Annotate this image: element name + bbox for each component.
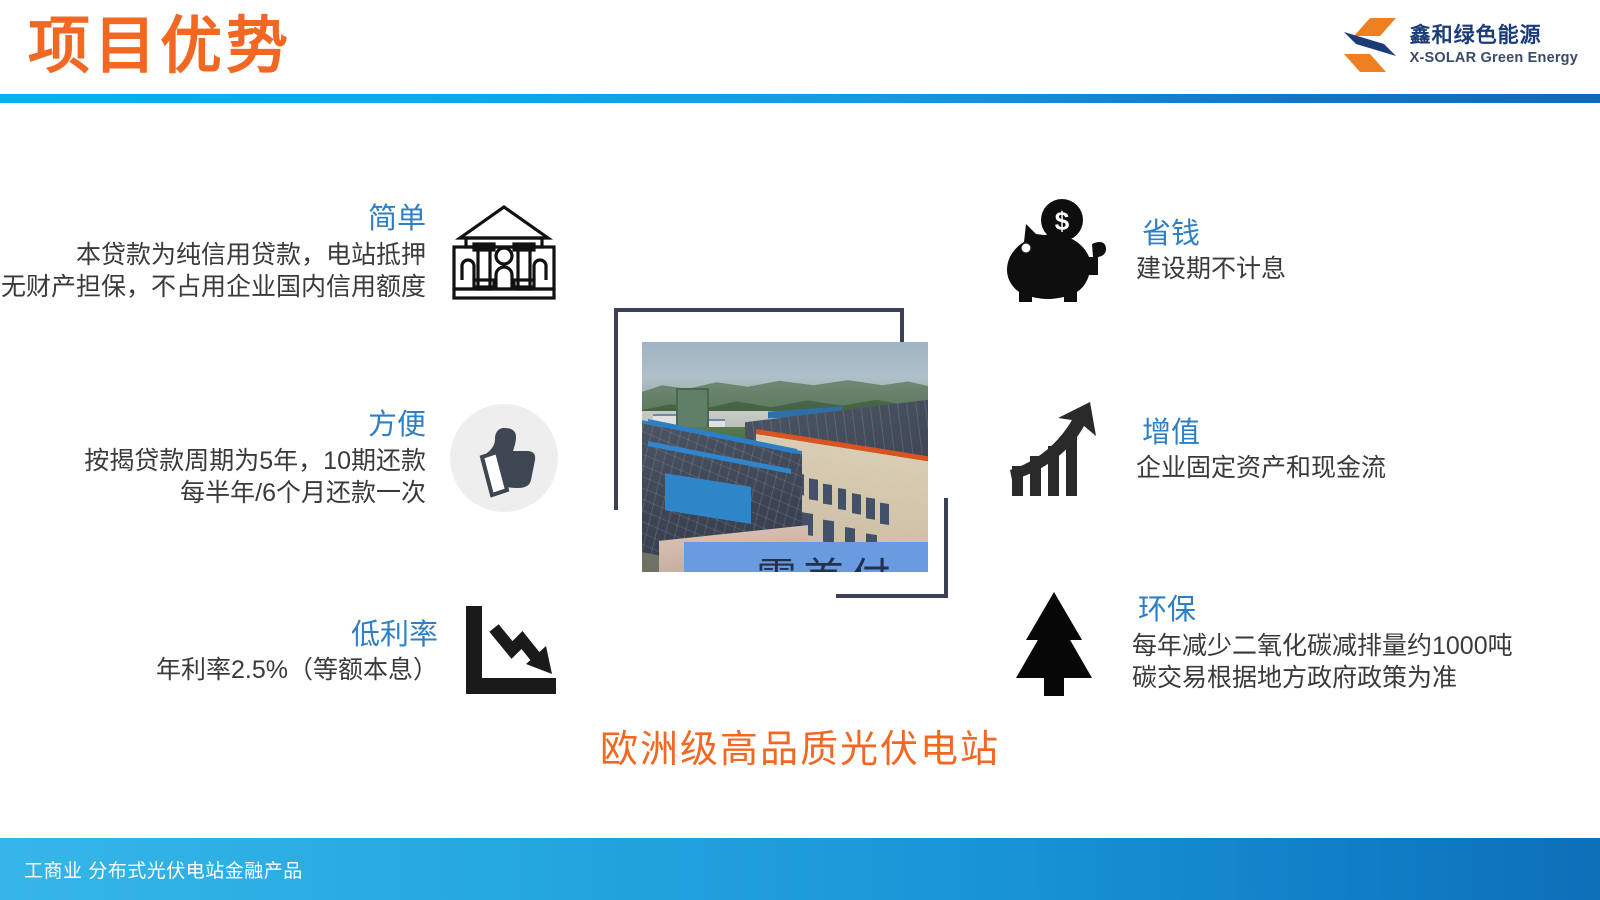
feature-description: 按揭贷款周期为5年，10期还款 每半年/6个月还款一次 [84,445,426,510]
feature-title: 增值 [1136,414,1386,452]
feature-description: 年利率2.5%（等额本息） [156,654,438,687]
feature-item-convenient: 方便 按揭贷款周期为5年，10期还款 每半年/6个月还款一次 [0,402,560,514]
slide-root: 项目优势 鑫和绿色能源 X-SOLAR Green Energy 简单 本贷款为… [0,0,1600,900]
header-divider-rule [0,94,1600,103]
growth-arrow-chart-svg [1000,398,1112,500]
feature-item-value-added: 增值 企业固定资产和现金流 [1000,398,1580,500]
center-photo-block: 零首付 [600,300,960,600]
logo-name-en: X-SOLAR Green Energy [1410,51,1578,66]
bank-building-svg [448,200,560,304]
feature-item-eco: 环保 每年减少二氧化碳减排量约1000吨 碳交易根据地方政府政策为准 [1000,588,1580,698]
feature-title: 方便 [84,406,426,444]
footer-text: 工商业 分布式光伏电站金融产品 [24,856,303,883]
feature-description: 每年减少二氧化碳减排量约1000吨 碳交易根据地方政府政策为准 [1132,630,1513,695]
feature-text-block: 方便 按揭贷款周期为5年，10期还款 每半年/6个月还款一次 [84,406,426,509]
feature-item-low-rate: 低利率 年利率2.5%（等额本息） [0,602,560,700]
logo-mark-svg [1340,16,1400,74]
growth-arrow-chart-icon [1000,398,1112,500]
feature-title: 低利率 [156,616,438,654]
feature-description: 本贷款为纯信用贷款，电站抵押 无财产担保，不占用企业国内信用额度 [1,239,426,304]
feature-text-block: 省钱 建设期不计息 [1136,215,1286,286]
declining-chart-icon [460,602,560,700]
feature-item-simple: 简单 本贷款为纯信用贷款，电站抵押 无财产担保，不占用企业国内信用额度 [0,200,560,304]
feature-text-block: 增值 企业固定资产和现金流 [1136,414,1386,485]
feature-text-block: 简单 本贷款为纯信用贷款，电站抵押 无财产担保，不占用企业国内信用额度 [1,200,426,303]
feature-text-block: 环保 每年减少二氧化碳减排量约1000吨 碳交易根据地方政府政策为准 [1132,591,1513,694]
rooftop-solar-photo: 零首付 [642,342,928,572]
x-solar-logo-mark-icon [1340,16,1400,74]
feature-item-save-money: $ 省钱 建设期不计息 [1000,198,1580,302]
center-tagline: 欧洲级高品质光伏电站 [600,718,992,773]
tree-icon [1000,588,1108,698]
feature-text-block: 低利率 年利率2.5%（等额本息） [156,616,438,687]
thumbs-up-icon [448,402,560,514]
piggy-bank-svg: $ [1000,198,1112,302]
logo-text-block: 鑫和绿色能源 X-SOLAR Green Energy [1410,25,1578,66]
bank-building-icon [448,200,560,304]
feature-description: 企业固定资产和现金流 [1136,452,1386,485]
brand-logo: 鑫和绿色能源 X-SOLAR Green Energy [1340,16,1578,74]
svg-text:$: $ [1055,206,1070,236]
piggy-bank-icon: $ [1000,198,1112,302]
declining-chart-svg [460,602,560,700]
feature-title: 简单 [1,200,426,238]
photo-caption-band: 零首付 [684,542,928,572]
photo-caption-text: 零首付 [757,545,898,572]
tree-svg [1000,588,1108,698]
feature-title: 省钱 [1136,215,1286,253]
page-title: 项目优势 [28,8,292,86]
footer-bar: 工商业 分布式光伏电站金融产品 [0,838,1600,900]
feature-title: 环保 [1132,591,1513,629]
feature-description: 建设期不计息 [1136,253,1286,286]
thumbs-up-svg [448,402,560,514]
logo-name-cn: 鑫和绿色能源 [1410,25,1578,46]
